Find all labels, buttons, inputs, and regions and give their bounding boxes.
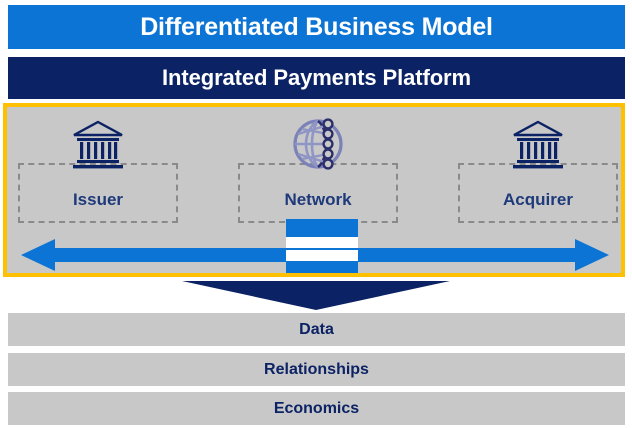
down-chevron-arrow	[182, 281, 450, 310]
pillar-bar-relationships: Relationships	[8, 353, 625, 386]
pillar-label-data: Data	[299, 321, 334, 339]
platform-subtitle: Integrated Payments Platform	[162, 65, 471, 91]
actor-label-network: Network	[284, 190, 351, 210]
logo-text-line2: EXPRESS	[286, 250, 358, 261]
actor-box-acquirer: Acquirer	[458, 163, 618, 223]
pillar-bar-economics: Economics	[8, 392, 625, 425]
slide-title: Differentiated Business Model	[140, 13, 493, 42]
actor-box-network: Network	[238, 163, 398, 223]
american-express-logo: AMERICAN EXPRESS	[286, 219, 358, 273]
actor-label-issuer: Issuer	[73, 190, 123, 210]
logo-text-line1: AMERICAN	[286, 237, 358, 248]
pillar-label-relationships: Relationships	[264, 361, 369, 379]
pillar-label-economics: Economics	[274, 400, 359, 418]
slide-title-bar: Differentiated Business Model	[8, 5, 625, 49]
integrated-payments-panel: Issuer Network	[3, 103, 625, 277]
slide-canvas: Differentiated Business Model Integrated…	[0, 0, 632, 428]
platform-subtitle-bar: Integrated Payments Platform	[8, 57, 625, 99]
actor-box-issuer: Issuer	[18, 163, 178, 223]
pillar-bar-data: Data	[8, 313, 625, 346]
actor-label-acquirer: Acquirer	[503, 190, 573, 210]
